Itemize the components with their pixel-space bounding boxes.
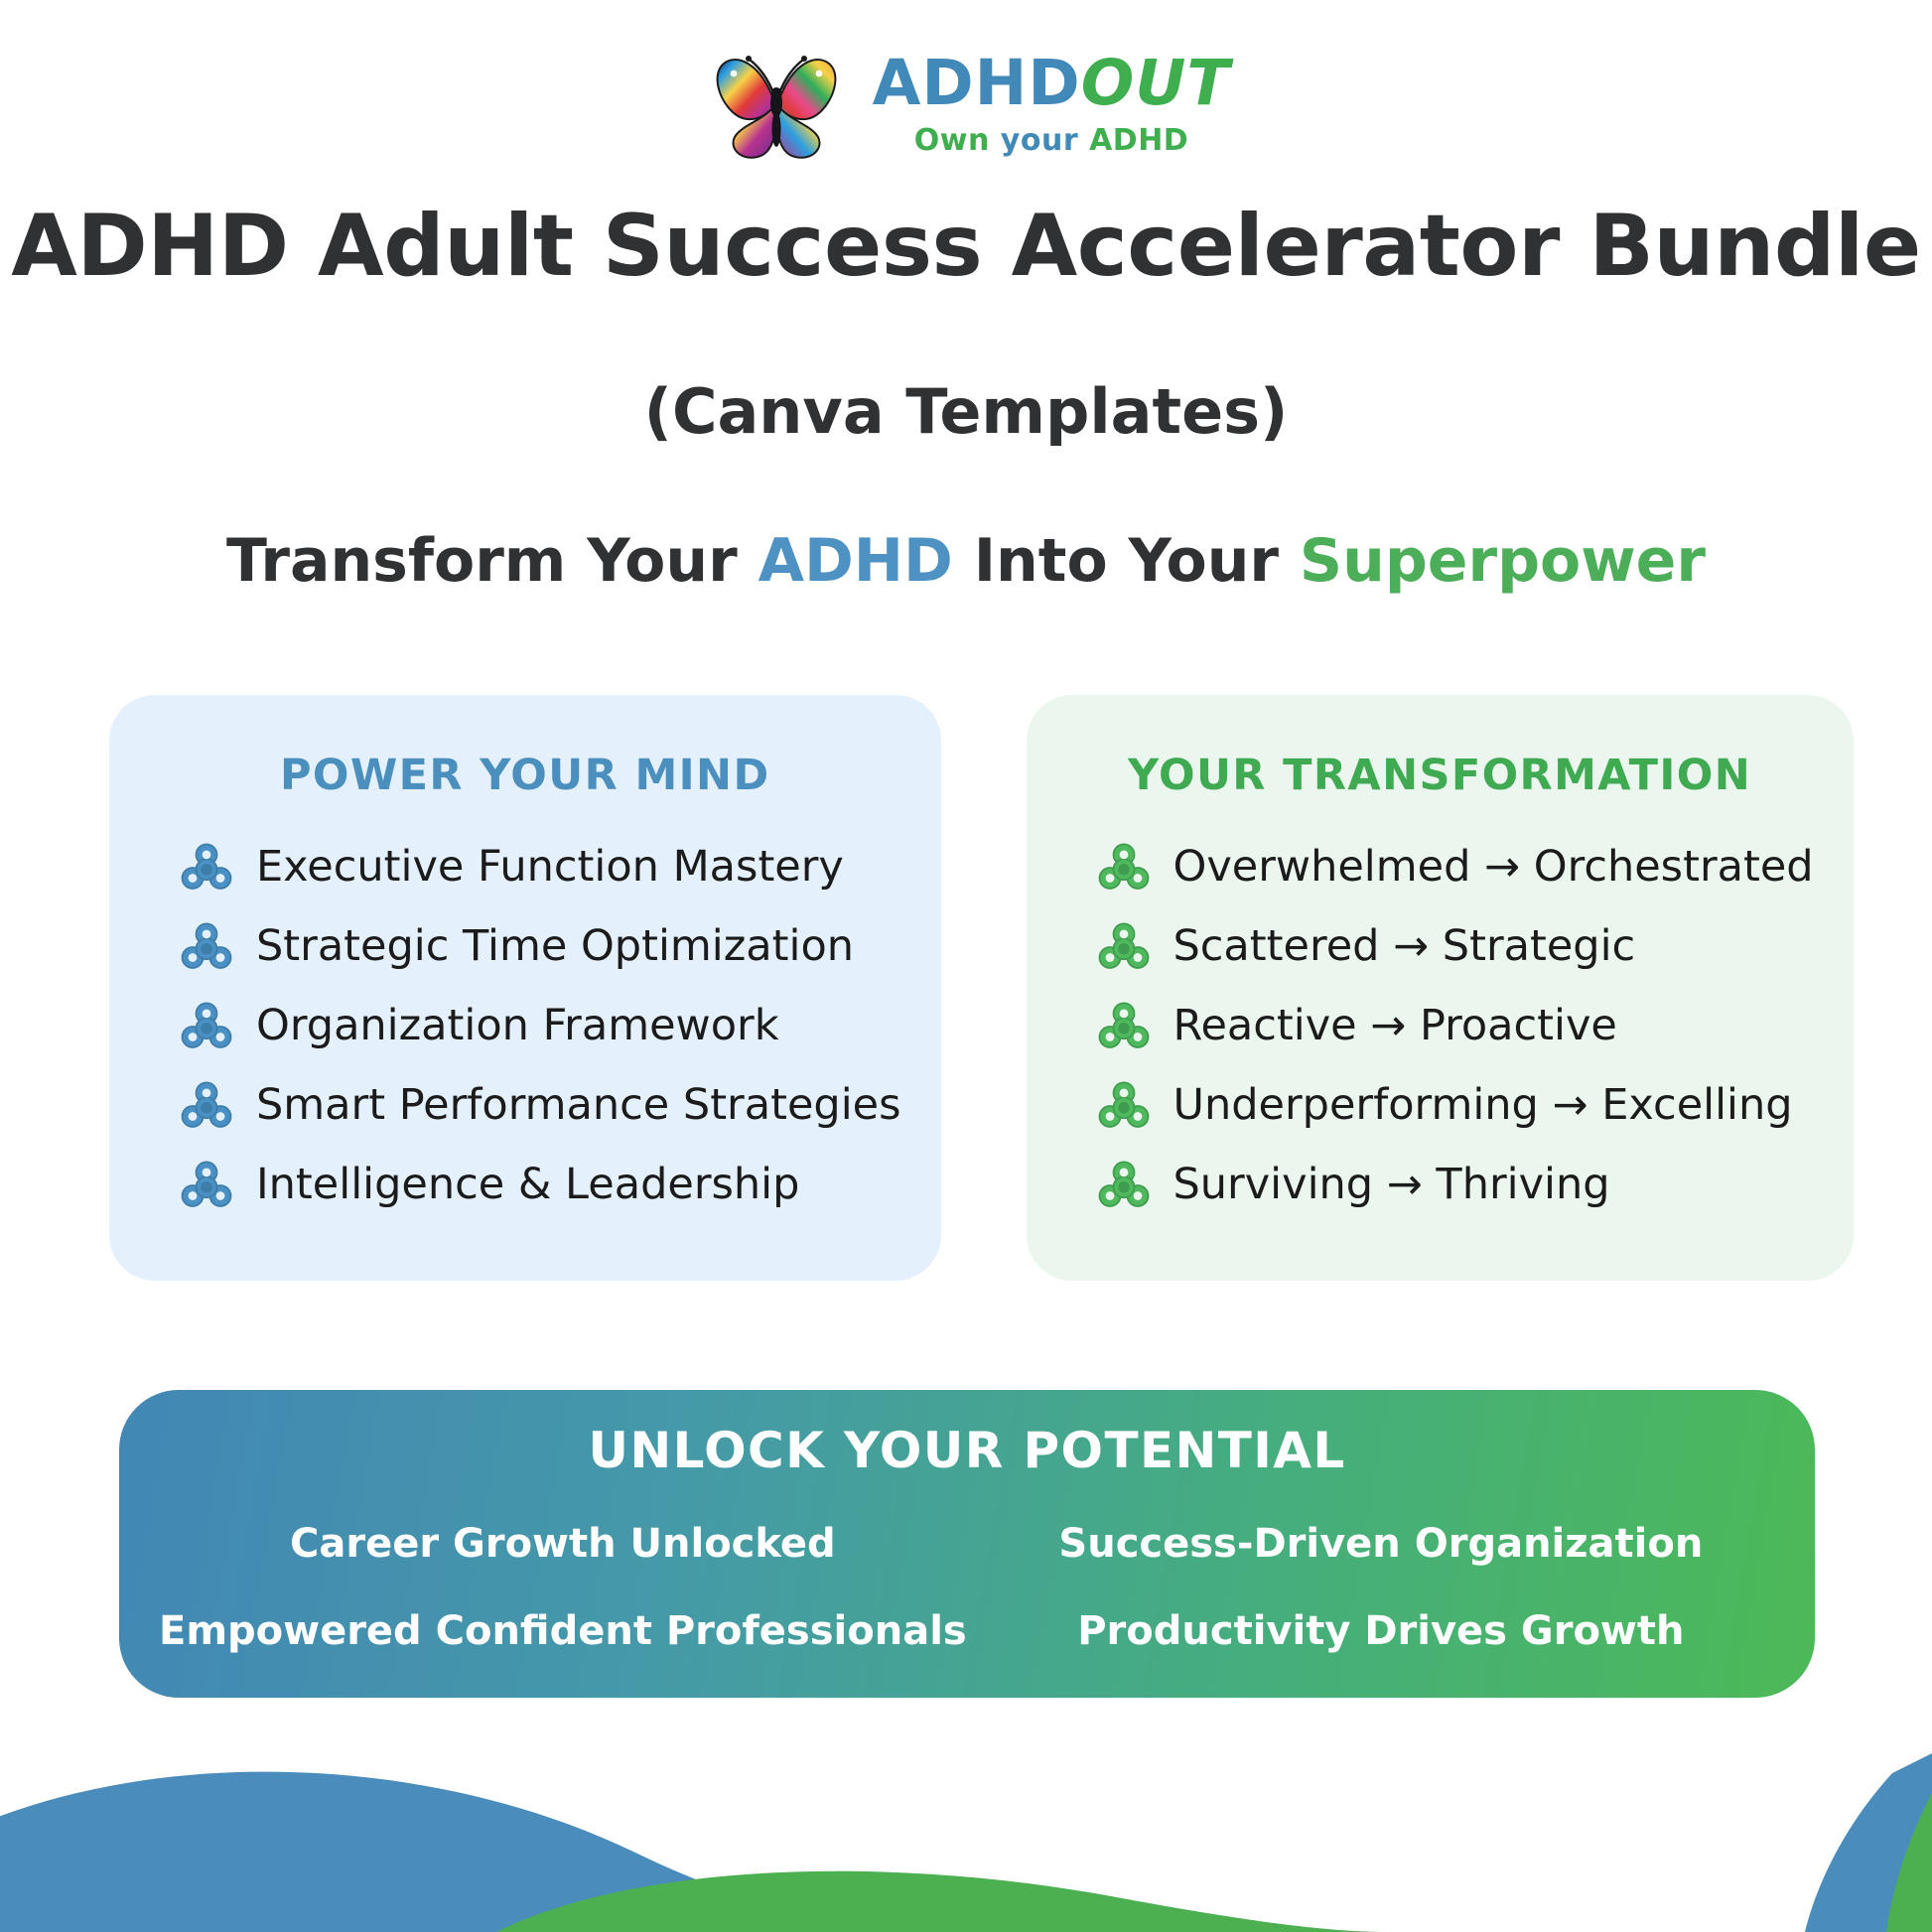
tagline-word-your: your xyxy=(1001,123,1078,158)
fidget-spinner-icon xyxy=(1096,999,1152,1054)
list-item: Overwhelmed → Orchestrated xyxy=(1096,840,1814,896)
feature-cards: POWER YOUR MIND Executive Function Maste… xyxy=(109,695,1823,1281)
list-item: Executive Function Mastery xyxy=(179,840,901,896)
page-subtitle: (Canva Templates) xyxy=(0,375,1932,448)
card-power-your-mind: POWER YOUR MIND Executive Function Maste… xyxy=(109,695,941,1281)
banner-benefit-grid: Career Growth Unlocked Success-Driven Or… xyxy=(159,1521,1775,1654)
fidget-spinner-icon xyxy=(1096,840,1152,896)
decorative-waves xyxy=(0,1714,1932,1932)
promise-text-2: Into Your xyxy=(953,526,1300,596)
card-heading: YOUR TRANSFORMATION xyxy=(1066,751,1814,800)
list-item: Intelligence & Leadership xyxy=(179,1158,901,1213)
infographic-page: ADHDOUT Own your ADHD ADHD Adult Success… xyxy=(0,0,1932,1932)
promise-text-1: Transform Your xyxy=(226,526,759,596)
promise-headline: Transform Your ADHD Into Your Superpower xyxy=(0,526,1932,596)
list-item-label: Smart Performance Strategies xyxy=(256,1079,901,1133)
card-your-transformation: YOUR TRANSFORMATION Overwhelmed → Orches… xyxy=(1027,695,1854,1281)
brand-tagline: Own your ADHD xyxy=(914,123,1188,158)
promise-highlight-superpower: Superpower xyxy=(1300,526,1706,596)
list-item-label: Organization Framework xyxy=(256,1000,779,1053)
fidget-spinner-icon xyxy=(179,919,234,975)
tagline-word-own: Own xyxy=(914,123,990,158)
tagline-word-adhd: ADHD xyxy=(1089,123,1188,158)
list-item-label: Strategic Time Optimization xyxy=(256,920,854,974)
wordmark-primary: ADHD xyxy=(873,47,1081,119)
list-item: Reactive → Proactive xyxy=(1096,999,1814,1054)
banner-heading: UNLOCK YOUR POTENTIAL xyxy=(159,1422,1775,1479)
fidget-spinner-icon xyxy=(1096,919,1152,975)
wordmark: ADHDOUT xyxy=(873,51,1231,116)
list-item-label: Reactive → Proactive xyxy=(1173,1000,1617,1053)
page-title: ADHD Adult Success Accelerator Bundle xyxy=(0,199,1932,294)
list-item: Scattered → Strategic xyxy=(1096,919,1814,975)
list-item-label: Overwhelmed → Orchestrated xyxy=(1173,841,1814,895)
list-item-label: Surviving → Thriving xyxy=(1173,1159,1610,1212)
fidget-spinner-icon xyxy=(1096,1158,1152,1213)
butterfly-icon xyxy=(702,38,851,167)
banner-benefit: Career Growth Unlocked xyxy=(159,1521,967,1567)
card-list: Executive Function Mastery Strategic Tim… xyxy=(149,840,901,1213)
fidget-spinner-icon xyxy=(179,840,234,896)
card-list: Overwhelmed → Orchestrated Scattered → S… xyxy=(1066,840,1814,1213)
list-item-label: Executive Function Mastery xyxy=(256,841,844,895)
wordmark-accent: OUT xyxy=(1081,47,1231,119)
list-item: Smart Performance Strategies xyxy=(179,1078,901,1134)
list-item-label: Underperforming → Excelling xyxy=(1173,1079,1793,1133)
brand-logo: ADHDOUT Own your ADHD xyxy=(0,38,1932,167)
fidget-spinner-icon xyxy=(1096,1078,1152,1134)
fidget-spinner-icon xyxy=(179,1078,234,1134)
list-item: Strategic Time Optimization xyxy=(179,919,901,975)
list-item-label: Scattered → Strategic xyxy=(1173,920,1636,974)
banner-benefit: Productivity Drives Growth xyxy=(987,1608,1775,1654)
card-heading: POWER YOUR MIND xyxy=(149,751,901,800)
fidget-spinner-icon xyxy=(179,999,234,1054)
banner-benefit: Success-Driven Organization xyxy=(987,1521,1775,1567)
list-item: Organization Framework xyxy=(179,999,901,1054)
list-item-label: Intelligence & Leadership xyxy=(256,1159,799,1212)
list-item: Underperforming → Excelling xyxy=(1096,1078,1814,1134)
promise-highlight-adhd: ADHD xyxy=(759,526,953,596)
unlock-potential-banner: UNLOCK YOUR POTENTIAL Career Growth Unlo… xyxy=(119,1390,1815,1698)
list-item: Surviving → Thriving xyxy=(1096,1158,1814,1213)
fidget-spinner-icon xyxy=(179,1158,234,1213)
banner-benefit: Empowered Confident Professionals xyxy=(159,1608,967,1654)
